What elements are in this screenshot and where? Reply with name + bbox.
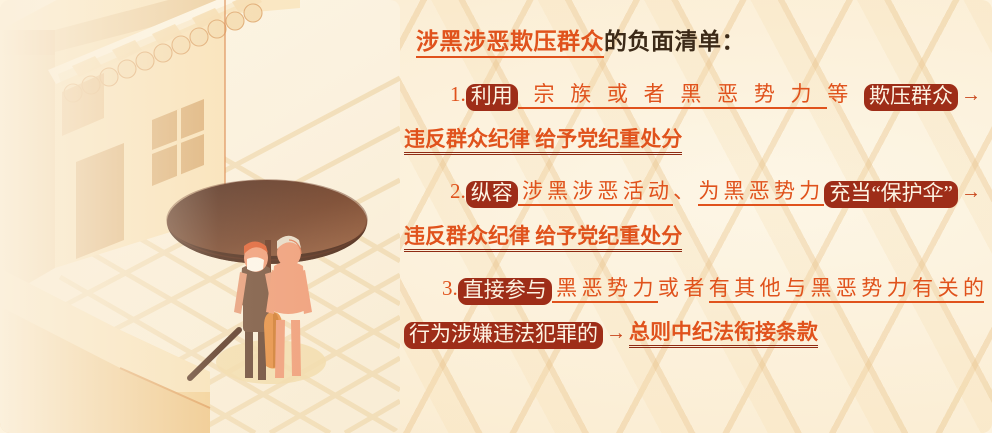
- page-title-highlight: 涉黑涉恶欺压群众: [416, 29, 604, 58]
- keyword-badge: 纵容: [466, 181, 518, 208]
- underlined-phrase: 有其他与黑恶势力有关的: [709, 276, 984, 303]
- building-side-wall: [0, 30, 55, 300]
- underlined-phrase: 为黑恶势力: [698, 179, 824, 206]
- negative-list-items: 1.利用宗族或者黑恶势力等欺压群众→违反群众纪律 给予党纪重处分2.纵容涉黑涉恶…: [404, 72, 984, 355]
- conclusion-text: 总则中纪法衔接条款: [629, 320, 818, 348]
- arrow-icon: →: [958, 181, 984, 203]
- underlined-phrase: 黑恶势力: [552, 276, 658, 303]
- illustration-svg: [0, 0, 400, 433]
- keyword-badge: 欺压群众: [864, 84, 958, 111]
- list-item-number: 3.: [442, 266, 458, 310]
- plain-text: 等: [827, 82, 864, 106]
- building-door: [76, 143, 124, 259]
- list-item: 1.利用宗族或者黑恶势力等欺压群众→违反群众纪律 给予党纪重处分: [404, 72, 984, 161]
- text-content-column: 涉黑涉恶欺压群众的负面清单： 1.利用宗族或者黑恶势力等欺压群众→违反群众纪律 …: [404, 0, 992, 433]
- list-item: 3.直接参与黑恶势力或者有其他与黑恶势力有关的行为涉嫌违法犯罪的→总则中纪法衔接…: [404, 266, 984, 355]
- arrow-icon: →: [958, 84, 984, 106]
- page-title-rest: 的负面清单：: [604, 29, 745, 54]
- underlined-phrase: 宗族或者黑恶势力: [518, 82, 828, 109]
- list-item-number: 1.: [450, 72, 466, 116]
- keyword-badge: 利用: [466, 84, 518, 111]
- arrow-icon: →: [603, 322, 629, 344]
- plain-text: 或者: [658, 276, 709, 300]
- underlined-phrase: 涉黑涉恶活动: [518, 179, 673, 206]
- list-item: 2.纵容涉黑涉恶活动、为黑恶势力充当“保护伞”→违反群众纪律 给予党纪重处分: [404, 169, 984, 258]
- poster-root: 涉黑涉恶欺压群众的负面清单： 1.利用宗族或者黑恶势力等欺压群众→违反群众纪律 …: [0, 0, 992, 433]
- building-roof-edge: [0, 30, 55, 55]
- list-item-number: 2.: [450, 169, 466, 213]
- isometric-illustration: [0, 0, 400, 433]
- keyword-badge: 直接参与: [458, 278, 552, 305]
- page-title: 涉黑涉恶欺压群众的负面清单：: [416, 22, 984, 56]
- conclusion-text: 违反群众纪律 给予党纪重处分: [404, 127, 682, 155]
- plain-text: 、: [673, 179, 698, 203]
- keyword-badge: 行为涉嫌违法犯罪的: [404, 322, 603, 349]
- keyword-badge: 充当“保护伞”: [824, 181, 958, 208]
- conclusion-text: 违反群众纪律 给予党纪重处分: [404, 224, 682, 252]
